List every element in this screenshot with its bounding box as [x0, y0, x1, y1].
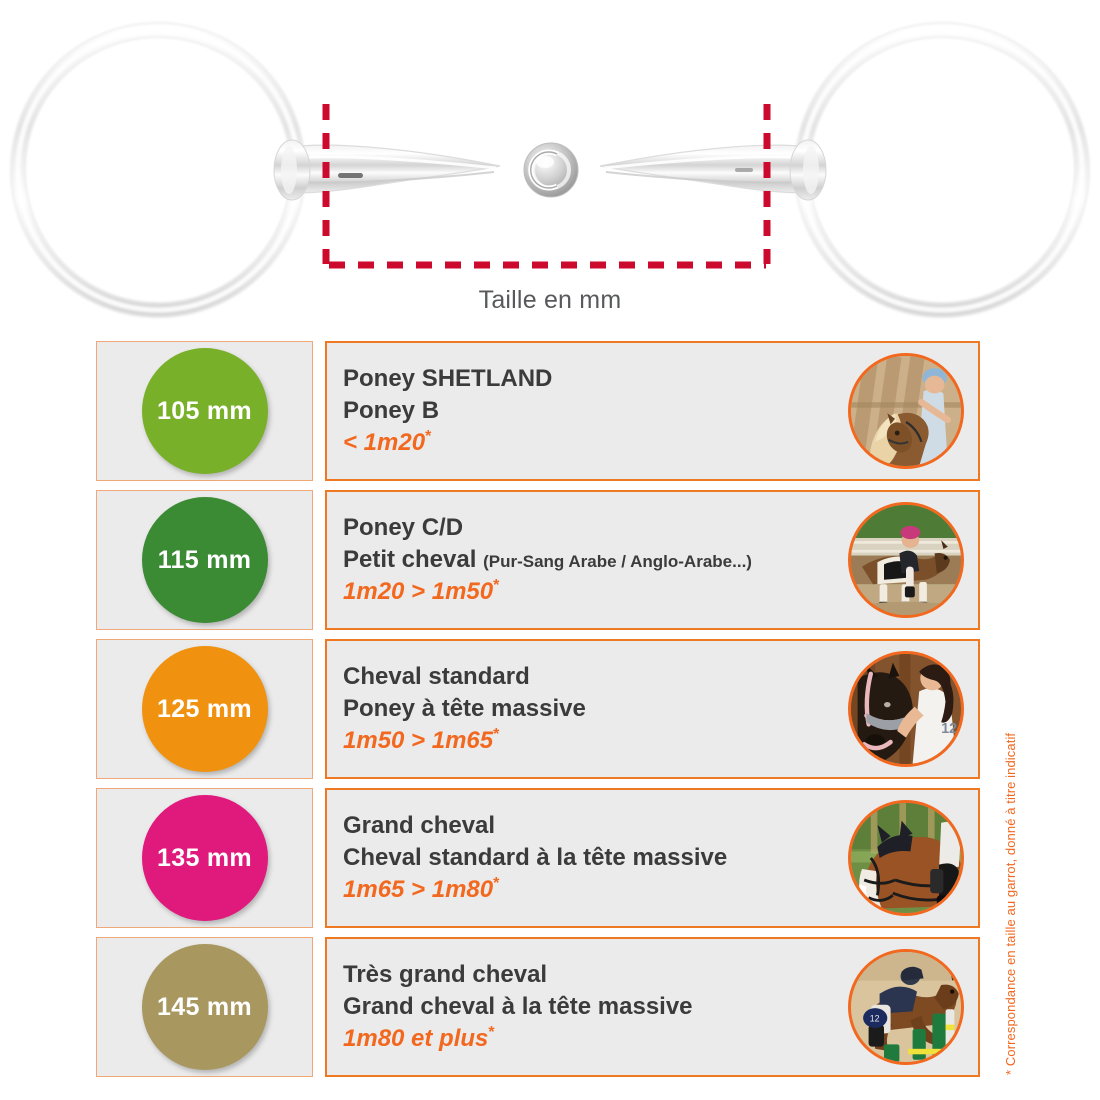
right-mouthpiece-arm: [600, 140, 826, 200]
category-line-2-note: (Pur-Sang Arabe / Anglo-Arabe...): [483, 552, 752, 571]
bit-illustration: Taille en mm: [0, 0, 1100, 340]
category-line-1: Très grand cheval: [343, 959, 848, 991]
height-range: 1m65 > 1m80*: [343, 873, 848, 906]
size-badge-cell: 115 mm: [96, 490, 313, 630]
category-line-1: Poney SHETLAND: [343, 363, 848, 395]
category-line-1: Cheval standard: [343, 661, 848, 693]
table-row: 105 mm Poney SHETLAND Poney B < 1m20*: [96, 341, 980, 481]
photo-chestnut-horse-svg: [851, 803, 961, 913]
height-range: 1m20 > 1m50*: [343, 575, 848, 608]
height-range-value: 1m20 > 1m50: [343, 578, 493, 605]
category-line-2: Poney à tête massive: [343, 693, 848, 725]
category-line-1: Grand cheval: [343, 810, 848, 842]
height-range: 1m80 et plus*: [343, 1022, 848, 1055]
table-row: 145 mm Très grand cheval Grand cheval à …: [96, 937, 980, 1077]
height-range-value: 1m50 > 1m65: [343, 727, 493, 754]
footnote-marker: *: [488, 1024, 494, 1041]
size-badge-135: 135 mm: [142, 795, 268, 921]
category-line-2-text: Petit cheval: [343, 546, 476, 573]
footnote-marker: *: [493, 726, 499, 743]
size-badge-cell: 135 mm: [96, 788, 313, 928]
size-badge-cell: 145 mm: [96, 937, 313, 1077]
info-cell: Cheval standard Poney à tête massive 1m5…: [325, 639, 980, 779]
photo-pinto-pony-svg: [851, 505, 961, 615]
size-badge-115: 115 mm: [142, 497, 268, 623]
table-row: 125 mm Cheval standard Poney à tête mass…: [96, 639, 980, 779]
info-cell: Grand cheval Cheval standard à la tête m…: [325, 788, 980, 928]
table-row: 115 mm Poney C/D Petit cheval (Pur-Sang …: [96, 490, 980, 630]
left-mouthpiece-arm: [274, 140, 500, 200]
size-badge-105: 105 mm: [142, 348, 268, 474]
left-bit-ring: [11, 23, 305, 317]
photo-show-jumper-svg: 12: [851, 952, 961, 1062]
footnote-marker: *: [493, 577, 499, 594]
svg-text:12: 12: [870, 1013, 880, 1023]
row-photo-pinto-pony: [848, 502, 964, 618]
size-badge-125: 125 mm: [142, 646, 268, 772]
right-bit-ring: [795, 23, 1089, 317]
info-cell: Poney SHETLAND Poney B < 1m20*: [325, 341, 980, 481]
footnote-text: * Correspondance en taille au garrot, do…: [1003, 655, 1018, 1075]
category-line-2: Petit cheval (Pur-Sang Arabe / Anglo-Ara…: [343, 544, 848, 576]
height-range-value: < 1m20: [343, 429, 425, 456]
photo-shetland-svg: [851, 356, 961, 466]
info-cell: Poney C/D Petit cheval (Pur-Sang Arabe /…: [325, 490, 980, 630]
bit-center-joint: [524, 143, 578, 197]
row-photo-shetland: [848, 353, 964, 469]
svg-text:12: 12: [941, 721, 957, 737]
size-badge-cell: 125 mm: [96, 639, 313, 779]
category-line-1: Poney C/D: [343, 512, 848, 544]
category-line-2: Poney B: [343, 395, 848, 427]
height-range-value: 1m80 et plus: [343, 1025, 488, 1052]
row-photo-woman-with-horse: 12: [848, 651, 964, 767]
size-correspondence-table: 105 mm Poney SHETLAND Poney B < 1m20*: [96, 341, 980, 1077]
row-photo-chestnut-horse: [848, 800, 964, 916]
size-badge-cell: 105 mm: [96, 341, 313, 481]
category-line-2: Grand cheval à la tête massive: [343, 991, 848, 1023]
measure-caption: Taille en mm: [0, 286, 1100, 315]
table-row: 135 mm Grand cheval Cheval standard à la…: [96, 788, 980, 928]
height-range: < 1m20*: [343, 426, 848, 459]
category-line-2: Cheval standard à la tête massive: [343, 842, 848, 874]
height-range: 1m50 > 1m65*: [343, 724, 848, 757]
footnote-marker: *: [425, 428, 431, 445]
photo-woman-with-horse-svg: 12: [851, 654, 961, 764]
footnote-marker: *: [493, 875, 499, 892]
info-cell: Très grand cheval Grand cheval à la tête…: [325, 937, 980, 1077]
height-range-value: 1m65 > 1m80: [343, 876, 493, 903]
size-badge-145: 145 mm: [142, 944, 268, 1070]
row-photo-show-jumper: 12: [848, 949, 964, 1065]
